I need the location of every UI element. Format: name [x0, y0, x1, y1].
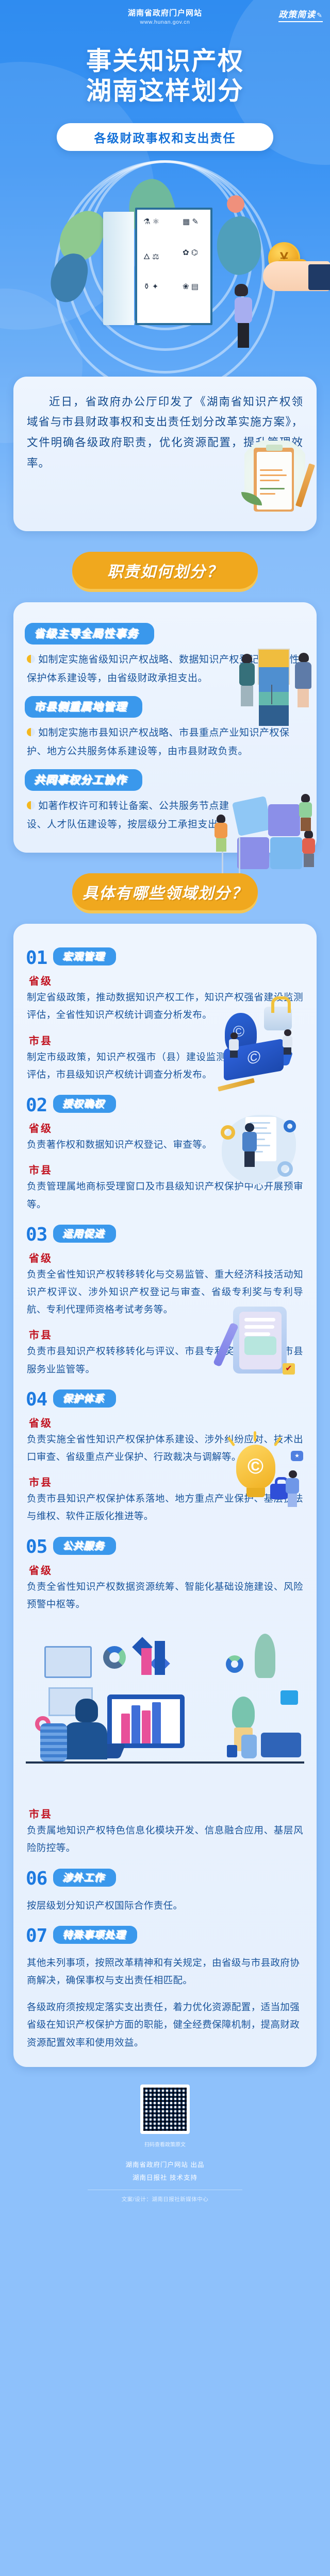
domain-item-header-5: 06 涉外工作 — [26, 1869, 317, 1888]
page-title-line2: 湖南这样划分 — [0, 77, 330, 107]
domain-item-city-text-2: 负责市县知识产权转移转化与评议、市县专利奖项与导航、市县服务业监管等。 — [27, 1343, 303, 1378]
clipboard-illustration — [244, 440, 305, 518]
footer-line-3: 文案/设计：湖南日报社新媒体中心 — [0, 2195, 330, 2203]
duty-section-heading-label: 职责如何划分？ — [107, 559, 223, 582]
domain-item-city-text-1: 负责管理属地商标受理窗口及市县级知识产权保护中心开展预审等。 — [27, 1178, 303, 1213]
domain-item-province-3: 省级 负责实施全省性知识产权保护体系建设、涉外纠纷应对、技术出口审查、省级重点产… — [27, 1415, 303, 1466]
duty-block-title-2: 共同事权分工协作 — [25, 769, 142, 791]
pen-icon: ✎ — [317, 11, 323, 19]
person-illustration — [235, 284, 255, 346]
domain-item-common-5: 按层级划分知识产权国际合作责任。 — [27, 1897, 303, 1914]
domain-item-header-1: 02 授权确权 — [26, 1095, 317, 1114]
hand-illustration — [263, 261, 330, 291]
level-label-city: 市县 — [29, 1809, 53, 1820]
domain-item-province-text-1: 负责著作权和数据知识产权登记、审查等。 — [27, 1136, 303, 1154]
domain-item-common-6: 其他未列事项，按照改革精神和有关规定，由省级与市县政府协商解决，确保事权与支出责… — [27, 1954, 303, 1989]
domain-item-header-4: 05 公共服务 — [26, 1537, 317, 1556]
domain-item-city-4: 市县 负责属地知识产权特色信息化模块开发、信息融合应用、基层风险防控等。 — [27, 1806, 303, 1857]
domain-item-number-6: 07 — [26, 1928, 47, 1944]
domain-item-common-text-5: 按层级划分知识产权国际合作责任。 — [27, 1900, 183, 1911]
domain-closing-text: 各级政府须按规定落实支出责任，着力优化资源配置，适当加强省级在知识产权保护方面的… — [27, 2002, 300, 2047]
level-label-province: 省级 — [29, 1253, 53, 1264]
level-label-province: 省级 — [29, 976, 53, 987]
domain-item-city-text-0: 制定市级政策，知识产权强市（县）建设监测评估，市县级知识产权统计调查分析发布。 — [27, 1048, 303, 1083]
footer-divider — [88, 2190, 242, 2190]
duty-block-text-2: 如著作权许可和转让备案、公共服务节点建设、人才队伍建设等，按层级分工承担支出。 — [27, 801, 229, 830]
bullet-icon — [27, 801, 35, 809]
bullet-icon — [27, 655, 35, 663]
domain-item-number-0: 01 — [26, 950, 47, 967]
duty-section-heading: 职责如何划分？ — [72, 552, 258, 589]
duty-block-body-1: 如制定实施市县知识产权战略、市县重点产业知识产权保护、地方公共服务体系建设等，由… — [13, 721, 317, 762]
domain-item-city-0: 市县 制定市级政策，知识产权强市（县）建设监测评估，市县级知识产权统计调查分析发… — [27, 1032, 303, 1083]
domain-item-tag-6: 特殊事项处理 — [53, 1926, 137, 1944]
flower-decoration — [227, 195, 244, 213]
domain-section-heading: 具体有哪些领域划分？ — [72, 873, 258, 910]
duty-block-title-1: 市县侧重属地管理 — [25, 696, 142, 718]
domain-item-header-6: 07 特殊事项处理 — [26, 1926, 317, 1945]
intro-card: 近日，省政府办公厅印发了《湖南省知识产权领域省与市县财政事权和支出责任划分改革实… — [13, 377, 317, 531]
domain-item-number-2: 03 — [26, 1227, 47, 1243]
domain-item-tag-2: 运用促进 — [53, 1225, 116, 1243]
footer-line-1: 湖南省政府门户网站 出品 — [0, 2159, 330, 2172]
domain-item-city-2: 市县 负责市县知识产权转移转化与评议、市县专利奖项与导航、市县服务业监管等。 — [27, 1327, 303, 1378]
hero-section: 事关知识产权 湖南这样划分 各级财政事权和支出责任 ¥ — [0, 28, 330, 151]
level-label-province: 省级 — [29, 1123, 53, 1134]
office-desk-illustration — [26, 1683, 304, 1802]
level-label-province: 省级 — [29, 1565, 53, 1577]
level-label-city: 市县 — [29, 1036, 53, 1047]
page-footer: 扫码查看政策原文 湖南省政府门户网站 出品 湖南日报社 技术支持 文案/设计：湖… — [0, 2084, 330, 2216]
domain-item-province-0: 省级 制定省级政策，推动数据知识产权工作，知识产权强省建设监测评估，全省性知识产… — [27, 973, 303, 1024]
domain-card: 01 宏观管理 省级 制定省级政策，推动数据知识产权工作，知识产权强省建设监测评… — [13, 924, 317, 2067]
level-label-province: 省级 — [29, 1418, 53, 1429]
domain-closing: 各级政府须按规定落实支出责任，着力优化资源配置，适当加强省级在知识产权保护方面的… — [27, 1998, 303, 2052]
domain-item-city-text-3: 负责市县知识产权保护体系落地、地方重点产业保护、基层执法与维权、软件正版化推进等… — [27, 1490, 303, 1525]
level-label-city: 市县 — [29, 1477, 53, 1488]
page-title: 事关知识产权 湖南这样划分 — [0, 47, 330, 107]
infographic-page: 湖南省政府门户网站 www.hunan.gov.cn 政策简读✎ 事关知识产权 … — [0, 0, 330, 2576]
domain-item-province-2: 省级 负责全省性知识产权转移转化与交易监管、重大经济科技活动知识产权评议、涉外知… — [27, 1250, 303, 1319]
qr-code[interactable] — [140, 2084, 190, 2134]
domain-item-tag-4: 公共服务 — [53, 1537, 116, 1555]
domain-item-header-3: 04 保护体系 — [26, 1389, 317, 1409]
bullet-icon — [27, 728, 35, 736]
domain-item-number-4: 05 — [26, 1539, 47, 1555]
domain-item-province-text-3: 负责实施全省性知识产权保护体系建设、涉外纠纷应对、技术出口审查、省级重点产业保护… — [27, 1431, 303, 1466]
domain-item-city-text-4: 负责属地知识产权特色信息化模块开发、信息融合应用、基层风险防控等。 — [27, 1822, 303, 1857]
domain-item-tag-1: 授权确权 — [53, 1095, 116, 1113]
domain-item-header-0: 01 宏观管理 — [26, 947, 317, 967]
qr-caption: 扫码查看政策原文 — [0, 2141, 330, 2149]
page-title-line1: 事关知识产权 — [86, 47, 244, 75]
domain-item-province-text-4: 负责全省性知识产权数据资源统筹、智能化基础设施建设、风险预警中枢等。 — [27, 1578, 303, 1613]
domain-section-heading-label: 具体有哪些领域划分？ — [82, 880, 247, 903]
duty-block-text-1: 如制定实施市县知识产权战略、市县重点产业知识产权保护、地方公共服务体系建设等，由… — [27, 727, 290, 757]
level-label-city: 市县 — [29, 1330, 53, 1341]
data-charts-illustration — [26, 1616, 304, 1678]
domain-item-number-3: 04 — [26, 1392, 47, 1408]
domain-item-tag-5: 涉外工作 — [53, 1869, 116, 1887]
duty-block-title-0: 省级主导全局性事务 — [25, 623, 154, 645]
duty-block-body-0: 如制定实施省级知识产权战略、数据知识产权登记、全省性保护体系建设等，由省级财政承… — [13, 648, 317, 689]
domain-item-province-text-2: 负责全省性知识产权转移转化与交易监管、重大经济科技活动知识产权评议、涉外知识产权… — [27, 1266, 303, 1319]
level-label-city: 市县 — [29, 1165, 53, 1176]
duty-block-body-2: 如著作权许可和转让备案、公共服务节点建设、人才队伍建设等，按层级分工承担支出。 — [13, 794, 317, 835]
open-book-icon: ⚗ ⚛ ▦ ✎ 🜂 ⚖ ✿ ⌬ ⚱ ✦ ❀ ▤ — [103, 212, 227, 333]
domain-item-province-1: 省级 负责著作权和数据知识产权登记、审查等。 — [27, 1120, 303, 1154]
duty-block-text-0: 如制定实施省级知识产权战略、数据知识产权登记、全省性保护体系建设等，由省级财政承… — [27, 654, 300, 684]
hero-subtitle: 各级财政事权和支出责任 — [57, 123, 273, 151]
domain-item-city-1: 市县 负责管理属地商标受理窗口及市县级知识产权保护中心开展预审等。 — [27, 1162, 303, 1213]
policy-brief-badge: 政策简读✎ — [278, 7, 323, 22]
domain-item-city-3: 市县 负责市县知识产权保护体系落地、地方重点产业保护、基层执法与维权、软件正版化… — [27, 1474, 303, 1525]
domain-item-tag-0: 宏观管理 — [53, 947, 116, 965]
duty-card: 省级主导全局性事务 如制定实施省级知识产权战略、数据知识产权登记、全省性保护体系… — [13, 602, 317, 853]
domain-item-province-text-0: 制定省级政策，推动数据知识产权工作，知识产权强省建设监测评估，全省性知识产权统计… — [27, 989, 303, 1024]
domain-item-common-text-6: 其他未列事项，按照改革精神和有关规定，由省级与市县政府协商解决，确保事权与支出责… — [27, 1957, 300, 1986]
domain-item-number-5: 06 — [26, 1871, 47, 1887]
footer-line-2: 湖南日报社 技术支持 — [0, 2172, 330, 2184]
domain-item-province-4: 省级 负责全省性知识产权数据资源统筹、智能化基础设施建设、风险预警中枢等。 — [27, 1562, 303, 1613]
domain-item-number-1: 02 — [26, 1097, 47, 1114]
domain-item-tag-3: 保护体系 — [53, 1389, 116, 1408]
domain-item-header-2: 03 运用促进 — [26, 1225, 317, 1244]
policy-brief-label: 政策简读 — [278, 10, 316, 20]
site-header: 湖南省政府门户网站 www.hunan.gov.cn 政策简读✎ — [0, 0, 330, 28]
